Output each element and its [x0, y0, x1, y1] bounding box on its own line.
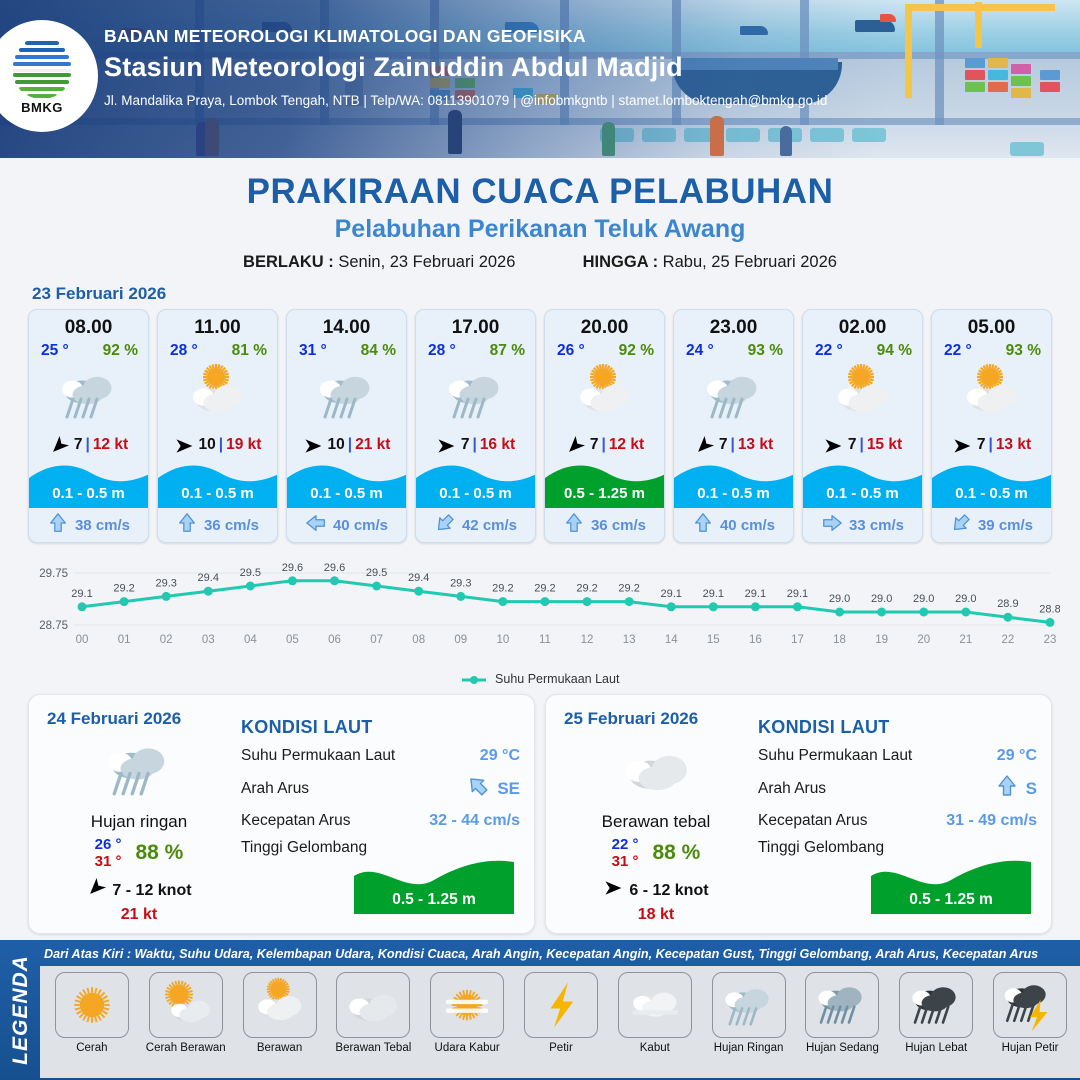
hourly-card: 08.00 25 ° 92 % 7 | 12 kt 0.1 - 0.5 m 38…	[28, 309, 149, 543]
svg-text:29.1: 29.1	[71, 588, 92, 600]
card-separator: |	[730, 436, 734, 454]
card-weather-icon-berawan	[803, 360, 922, 430]
daily-row-value: 29 °C	[997, 747, 1037, 765]
wind-direction-arrow-icon	[565, 436, 587, 454]
daily-gust: 21 kt	[39, 906, 239, 924]
wind-direction-arrow-icon	[952, 436, 974, 454]
svg-text:23: 23	[1044, 634, 1057, 646]
daily-temp-min: 26 °	[95, 836, 122, 853]
card-time: 20.00	[545, 310, 664, 339]
card-separator: |	[601, 436, 605, 454]
card-separator: |	[348, 436, 352, 454]
daily-row-label: Suhu Permukaan Laut	[758, 747, 912, 765]
daily-row-label: Arah Arus	[241, 780, 309, 798]
svg-text:08: 08	[412, 634, 425, 646]
svg-text:29.5: 29.5	[366, 567, 387, 579]
card-time: 11.00	[158, 310, 277, 339]
legend-item: Cerah	[46, 972, 138, 1054]
daily-row-label: Kecepatan Arus	[241, 812, 350, 830]
valid-until-label: HINGGA :	[583, 253, 658, 271]
svg-text:02: 02	[160, 634, 173, 646]
title-section: PRAKIRAAN CUACA PELABUHAN Pelabuhan Peri…	[0, 158, 1080, 272]
card-humidity: 87 %	[490, 342, 525, 360]
legend-side-title: LEGENDA	[0, 940, 42, 1080]
card-wind-speed: 7	[74, 436, 83, 454]
current-direction-arrow-icon	[47, 512, 69, 538]
legend-item-label: Hujan Lebat	[890, 1042, 982, 1054]
daily-date: 24 Februari 2026	[47, 709, 181, 729]
wind-direction-arrow-icon	[49, 436, 71, 454]
svg-text:29.2: 29.2	[492, 583, 513, 595]
daily-row-value: 31 - 49 cm/s	[946, 812, 1037, 830]
card-time: 08.00	[29, 310, 148, 339]
legend-item-label: Udara Kabur	[421, 1042, 513, 1054]
card-temperature: 28 °	[428, 342, 456, 360]
legend-item-label: Kabut	[609, 1042, 701, 1054]
svg-text:21: 21	[959, 634, 972, 646]
legend-item-label: Berawan Tebal	[327, 1042, 419, 1054]
svg-text:29.2: 29.2	[534, 583, 555, 595]
svg-text:18: 18	[833, 634, 846, 646]
wind-direction-arrow-icon	[603, 878, 623, 903]
svg-text:29.2: 29.2	[576, 583, 597, 595]
card-current-speed: 40 cm/s	[720, 517, 775, 534]
card-separator: |	[85, 436, 89, 454]
card-wind-speed: 10	[328, 436, 345, 454]
svg-text:29.1: 29.1	[787, 588, 808, 600]
legend-icon-cerah	[55, 972, 129, 1038]
svg-text:28.75: 28.75	[39, 620, 68, 632]
card-time: 05.00	[932, 310, 1051, 339]
card-wind-speed: 7	[719, 436, 728, 454]
card-humidity: 94 %	[877, 342, 912, 360]
card-wave-band: 0.1 - 0.5 m	[158, 460, 277, 508]
daily-row-value: 29 °C	[480, 747, 520, 765]
legend-item-label: Hujan Sedang	[797, 1042, 889, 1054]
svg-text:04: 04	[244, 634, 257, 646]
daily-row-label: Suhu Permukaan Laut	[241, 747, 395, 765]
hourly-card: 02.00 22 ° 94 % 7 | 15 kt 0.1 - 0.5 m 33…	[802, 309, 923, 543]
card-humidity: 84 %	[361, 342, 396, 360]
card-separator: |	[859, 436, 863, 454]
legend-item: Cerah Berawan	[140, 972, 232, 1054]
legend-strip: LEGENDA Dari Atas Kiri : Waktu, Suhu Uda…	[0, 940, 1080, 1080]
legend-icon-petir	[524, 972, 598, 1038]
card-wave-height: 0.5 - 1.25 m	[545, 485, 664, 502]
legend-item-label: Cerah	[46, 1042, 138, 1054]
current-direction-arrow-icon	[692, 512, 714, 538]
card-separator: |	[988, 436, 992, 454]
wind-direction-arrow-icon	[823, 436, 845, 454]
legend-item: Berawan Tebal	[327, 972, 419, 1054]
card-wave-height: 0.1 - 0.5 m	[932, 485, 1051, 502]
daily-row-value: 32 - 44 cm/s	[429, 812, 520, 830]
svg-text:10: 10	[496, 634, 509, 646]
daily-row-label: Tinggi Gelombang	[758, 839, 884, 857]
svg-text:29.0: 29.0	[871, 593, 892, 605]
hourly-card: 17.00 28 ° 87 % 7 | 16 kt 0.1 - 0.5 m 42…	[415, 309, 536, 543]
daily-row-label: Arah Arus	[758, 780, 826, 798]
legend-item: Hujan Sedang	[797, 972, 889, 1054]
sea-condition-title: KONDISI LAUT	[758, 717, 1037, 738]
card-humidity: 93 %	[1006, 342, 1041, 360]
svg-text:09: 09	[454, 634, 467, 646]
card-gust: 16 kt	[480, 436, 515, 454]
card-wave-height: 0.1 - 0.5 m	[158, 485, 277, 502]
legend-item: Udara Kabur	[421, 972, 513, 1054]
legend-item: Hujan Petir	[984, 972, 1076, 1054]
legend-icon-hujan-lebat	[899, 972, 973, 1038]
svg-text:03: 03	[202, 634, 215, 646]
agency-name: BADAN METEOROLOGI KLIMATOLOGI DAN GEOFIS…	[104, 26, 827, 47]
svg-text:28.8: 28.8	[1039, 603, 1060, 615]
legend-icon-berawan-tebal	[336, 972, 410, 1038]
card-wind-speed: 7	[977, 436, 986, 454]
current-direction-arrow-icon	[466, 774, 490, 803]
legend-icon-hujan-sedang	[805, 972, 879, 1038]
daily-wind: 6 - 12 knot	[629, 882, 708, 900]
wind-direction-arrow-icon	[174, 436, 196, 454]
card-weather-icon-berawan	[158, 360, 277, 430]
card-current-speed: 42 cm/s	[462, 517, 517, 534]
daily-current-direction: S	[995, 774, 1037, 803]
card-wave-band: 0.5 - 1.25 m	[545, 460, 664, 508]
legend-icon-cerah-berawan	[149, 972, 223, 1038]
hourly-card: 14.00 31 ° 84 % 10 | 21 kt 0.1 - 0.5 m 4…	[286, 309, 407, 543]
card-wave-band: 0.1 - 0.5 m	[803, 460, 922, 508]
card-gust: 13 kt	[996, 436, 1031, 454]
current-direction-arrow-icon	[821, 512, 843, 538]
card-current-speed: 38 cm/s	[75, 517, 130, 534]
card-current-speed: 40 cm/s	[333, 517, 388, 534]
card-wind-speed: 10	[199, 436, 216, 454]
card-separator: |	[219, 436, 223, 454]
svg-text:29.6: 29.6	[282, 562, 303, 574]
svg-text:01: 01	[118, 634, 131, 646]
chart-legend-marker-icon	[461, 675, 487, 685]
card-temperature: 26 °	[557, 342, 585, 360]
validity-row: BERLAKU : Senin, 23 Februari 2026 HINGGA…	[0, 253, 1080, 272]
hourly-card: 11.00 28 ° 81 % 10 | 19 kt 0.1 - 0.5 m 3…	[157, 309, 278, 543]
svg-text:16: 16	[749, 634, 762, 646]
daily-row-label: Tinggi Gelombang	[241, 839, 367, 857]
svg-text:29.4: 29.4	[408, 572, 429, 584]
legend-item: Hujan Lebat	[890, 972, 982, 1054]
legend-icon-kabut	[618, 972, 692, 1038]
svg-text:29.1: 29.1	[661, 588, 682, 600]
bmkg-logo-text: BMKG	[21, 100, 63, 115]
card-current-speed: 36 cm/s	[204, 517, 259, 534]
svg-text:29.0: 29.0	[955, 593, 976, 605]
legend-icon-berawan	[243, 972, 317, 1038]
card-gust: 15 kt	[867, 436, 902, 454]
card-humidity: 92 %	[619, 342, 654, 360]
card-time: 14.00	[287, 310, 406, 339]
legend-item-label: Cerah Berawan	[140, 1042, 232, 1054]
svg-text:29.3: 29.3	[155, 577, 176, 589]
hourly-card: 23.00 24 ° 93 % 7 | 13 kt 0.1 - 0.5 m 40…	[673, 309, 794, 543]
card-time: 17.00	[416, 310, 535, 339]
daily-wind: 7 - 12 knot	[112, 882, 191, 900]
card-gust: 19 kt	[226, 436, 261, 454]
svg-text:29.3: 29.3	[450, 577, 471, 589]
svg-text:12: 12	[581, 634, 594, 646]
card-gust: 13 kt	[738, 436, 773, 454]
legend-item: Berawan	[234, 972, 326, 1054]
svg-text:29.75: 29.75	[39, 568, 68, 580]
hourly-card: 20.00 26 ° 92 % 7 | 12 kt 0.5 - 1.25 m 3…	[544, 309, 665, 543]
current-direction-arrow-icon	[305, 512, 327, 538]
page-header: BMKG BADAN METEOROLOGI KLIMATOLOGI DAN G…	[0, 0, 1080, 158]
card-time: 23.00	[674, 310, 793, 339]
card-wind-speed: 7	[590, 436, 599, 454]
card-weather-icon-berawan	[932, 360, 1051, 430]
current-direction-arrow-icon	[563, 512, 585, 538]
svg-text:29.6: 29.6	[324, 562, 345, 574]
legend-item-label: Petir	[515, 1042, 607, 1054]
wind-direction-arrow-icon	[86, 878, 106, 903]
card-temperature: 22 °	[815, 342, 843, 360]
card-gust: 12 kt	[609, 436, 644, 454]
legend-item-label: Hujan Petir	[984, 1042, 1076, 1054]
legend-item: Hujan Ringan	[703, 972, 795, 1054]
daily-forecast-panels: 24 Februari 2026 Hujan ringan 26 ° 31 ° …	[0, 686, 1080, 934]
sst-chart: 29.7528.7529.10029.20129.30229.40329.504…	[20, 555, 1060, 670]
svg-text:28.9: 28.9	[997, 598, 1018, 610]
svg-text:29.2: 29.2	[113, 583, 134, 595]
svg-text:17: 17	[791, 634, 804, 646]
legend-item-label: Berawan	[234, 1042, 326, 1054]
wind-direction-arrow-icon	[694, 436, 716, 454]
current-direction-arrow-icon	[434, 512, 456, 538]
card-time: 02.00	[803, 310, 922, 339]
card-weather-icon-hujan-ringan	[287, 360, 406, 430]
daily-date: 25 Februari 2026	[564, 709, 698, 729]
svg-text:29.4: 29.4	[198, 572, 219, 584]
svg-text:13: 13	[623, 634, 636, 646]
svg-text:05: 05	[286, 634, 299, 646]
card-current-speed: 36 cm/s	[591, 517, 646, 534]
card-wave-band: 0.1 - 0.5 m	[416, 460, 535, 508]
card-temperature: 22 °	[944, 342, 972, 360]
card-weather-icon-berawan	[545, 360, 664, 430]
card-temperature: 31 °	[299, 342, 327, 360]
daily-panel: 25 Februari 2026 Berawan tebal 22 ° 31 °…	[545, 694, 1052, 934]
svg-text:14: 14	[665, 634, 678, 646]
daily-weather-icon-berawan-tebal	[556, 733, 756, 810]
card-wave-band: 0.1 - 0.5 m	[674, 460, 793, 508]
card-weather-icon-hujan-ringan	[674, 360, 793, 430]
current-direction-arrow-icon	[176, 512, 198, 538]
daily-current-direction: SE	[466, 774, 520, 803]
daily-temp-max: 31 °	[95, 853, 122, 870]
card-humidity: 81 %	[232, 342, 267, 360]
daily-wave-graphic: 0.5 - 1.25 m	[871, 856, 1031, 919]
card-current-speed: 33 cm/s	[849, 517, 904, 534]
legend-icon-udara-kabur	[430, 972, 504, 1038]
current-direction-arrow-icon	[995, 774, 1019, 803]
daily-condition: Hujan ringan	[39, 812, 239, 832]
svg-text:29.0: 29.0	[913, 593, 934, 605]
card-wave-band: 0.1 - 0.5 m	[29, 460, 148, 508]
card-wave-height: 0.1 - 0.5 m	[803, 485, 922, 502]
svg-text:29.1: 29.1	[745, 588, 766, 600]
card-wave-band: 0.1 - 0.5 m	[287, 460, 406, 508]
svg-text:22: 22	[1002, 634, 1015, 646]
hourly-card: 05.00 22 ° 93 % 7 | 13 kt 0.1 - 0.5 m 39…	[931, 309, 1052, 543]
daily-wave-height: 0.5 - 1.25 m	[871, 891, 1031, 909]
contact-info: Jl. Mandalika Praya, Lombok Tengah, NTB …	[104, 93, 827, 108]
wind-direction-arrow-icon	[303, 436, 325, 454]
station-name: Stasiun Meteorologi Zainuddin Abdul Madj…	[104, 52, 827, 83]
svg-text:11: 11	[539, 634, 551, 646]
daily-wave-graphic: 0.5 - 1.25 m	[354, 856, 514, 919]
daily-weather-icon-hujan-ringan	[39, 733, 239, 810]
card-separator: |	[472, 436, 476, 454]
wind-direction-arrow-icon	[436, 436, 458, 454]
card-humidity: 93 %	[748, 342, 783, 360]
legend-item-label: Hujan Ringan	[703, 1042, 795, 1054]
card-temperature: 28 °	[170, 342, 198, 360]
svg-text:29.1: 29.1	[703, 588, 724, 600]
daily-humidity: 88 %	[652, 841, 700, 865]
card-wave-height: 0.1 - 0.5 m	[29, 485, 148, 502]
card-gust: 12 kt	[93, 436, 128, 454]
legend-icon-hujan-ringan	[712, 972, 786, 1038]
card-weather-icon-hujan-ringan	[416, 360, 535, 430]
valid-from-label: BERLAKU :	[243, 253, 334, 271]
svg-text:19: 19	[875, 634, 888, 646]
card-wave-band: 0.1 - 0.5 m	[932, 460, 1051, 508]
daily-wave-height: 0.5 - 1.25 m	[354, 891, 514, 909]
card-wave-height: 0.1 - 0.5 m	[416, 485, 535, 502]
card-humidity: 92 %	[103, 342, 138, 360]
card-current-speed: 39 cm/s	[978, 517, 1033, 534]
hourly-forecast-cards: 08.00 25 ° 92 % 7 | 12 kt 0.1 - 0.5 m 38…	[0, 309, 1080, 543]
page-title: PRAKIRAAN CUACA PELABUHAN	[0, 172, 1080, 212]
chart-legend: Suhu Permukaan Laut	[0, 672, 1080, 686]
svg-text:29.2: 29.2	[618, 583, 639, 595]
valid-until-value: Rabu, 25 Februari 2026	[663, 253, 837, 271]
svg-text:29.5: 29.5	[240, 567, 261, 579]
card-wind-speed: 7	[848, 436, 857, 454]
chart-legend-label: Suhu Permukaan Laut	[495, 672, 619, 686]
card-temperature: 24 °	[686, 342, 714, 360]
legend-icon-hujan-petir	[993, 972, 1067, 1038]
sea-condition-title: KONDISI LAUT	[241, 717, 520, 738]
legend-item: Kabut	[609, 972, 701, 1054]
hourly-date-label: 23 Februari 2026	[32, 284, 1080, 304]
svg-text:29.0: 29.0	[829, 593, 850, 605]
card-gust: 21 kt	[355, 436, 390, 454]
current-direction-arrow-icon	[950, 512, 972, 538]
legend-note: Dari Atas Kiri : Waktu, Suhu Udara, Kele…	[44, 947, 1076, 961]
svg-text:20: 20	[917, 634, 930, 646]
svg-text:07: 07	[370, 634, 383, 646]
legend-item-list: Cerah Cerah Berawan Berawan Berawan Teba…	[40, 966, 1080, 1078]
card-wave-height: 0.1 - 0.5 m	[674, 485, 793, 502]
page-subtitle: Pelabuhan Perikanan Teluk Awang	[0, 215, 1080, 244]
daily-humidity: 88 %	[135, 841, 183, 865]
card-weather-icon-hujan-ringan	[29, 360, 148, 430]
daily-gust: 18 kt	[556, 906, 756, 924]
card-wave-height: 0.1 - 0.5 m	[287, 485, 406, 502]
daily-temp-min: 22 °	[612, 836, 639, 853]
daily-condition: Berawan tebal	[556, 812, 756, 832]
svg-text:15: 15	[707, 634, 720, 646]
valid-from-value: Senin, 23 Februari 2026	[338, 253, 515, 271]
svg-text:06: 06	[328, 634, 341, 646]
bmkg-logo-icon	[11, 37, 73, 99]
legend-item: Petir	[515, 972, 607, 1054]
card-temperature: 25 °	[41, 342, 69, 360]
svg-text:00: 00	[76, 634, 89, 646]
daily-row-label: Kecepatan Arus	[758, 812, 867, 830]
daily-panel: 24 Februari 2026 Hujan ringan 26 ° 31 ° …	[28, 694, 535, 934]
daily-temp-max: 31 °	[612, 853, 639, 870]
card-wind-speed: 7	[461, 436, 470, 454]
